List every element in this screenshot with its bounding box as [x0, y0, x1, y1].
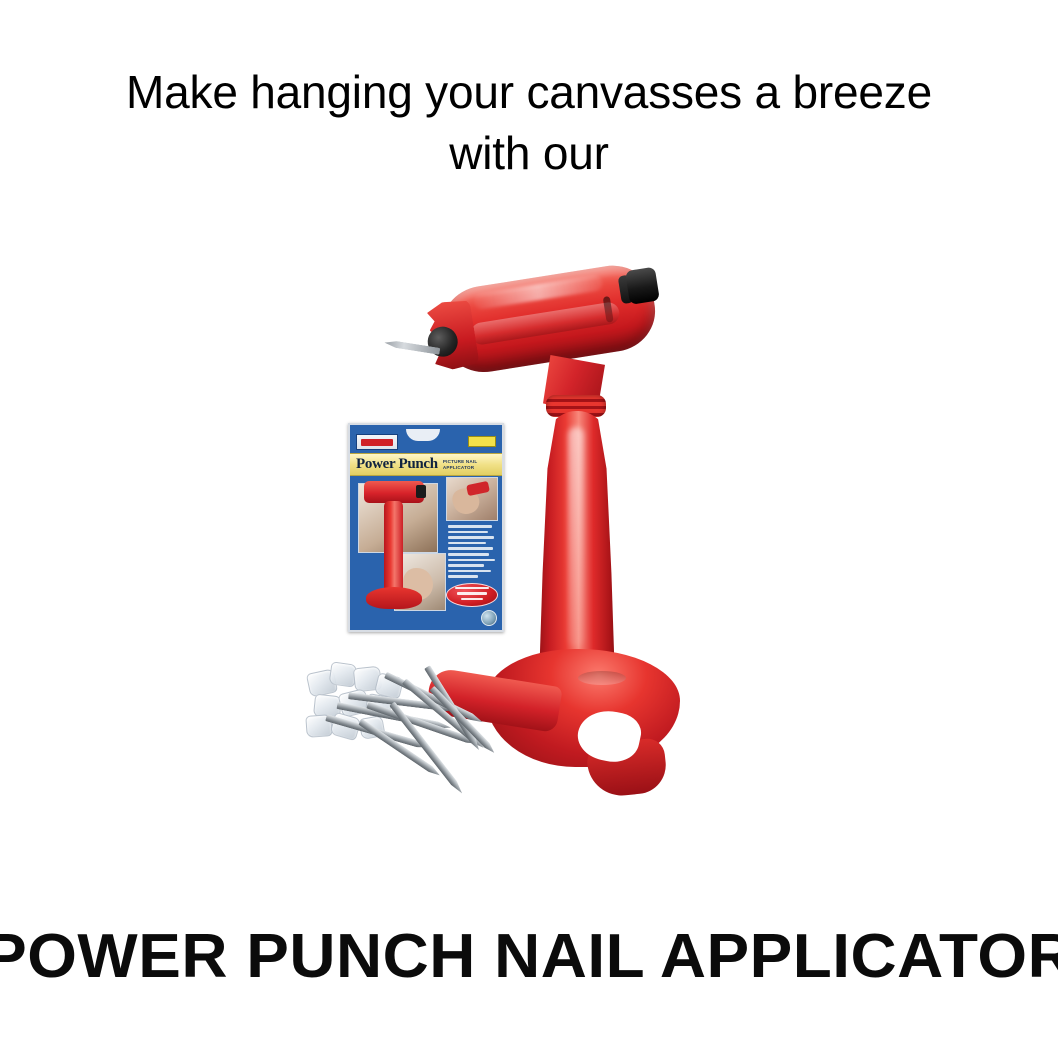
- black-end-cap: [625, 267, 660, 305]
- headline-line-2: with our: [0, 123, 1058, 184]
- page-headline: Make hanging your canvasses a breeze wit…: [0, 62, 1058, 184]
- tool-head: [413, 253, 669, 394]
- steel-picture-nails: [318, 687, 538, 827]
- promo-graphic: Make hanging your canvasses a breeze wit…: [0, 0, 1058, 1058]
- product-photo: Power Punch PICTURE NAIL APPLICATOR: [300, 255, 760, 830]
- shaft-highlight: [568, 427, 584, 647]
- base-dimple: [578, 671, 626, 685]
- power-punch-tool: [300, 255, 760, 830]
- page-caption: POWER PUNCH NAIL APPLICATOR!: [0, 920, 1058, 994]
- headline-line-1: Make hanging your canvasses a breeze: [0, 62, 1058, 123]
